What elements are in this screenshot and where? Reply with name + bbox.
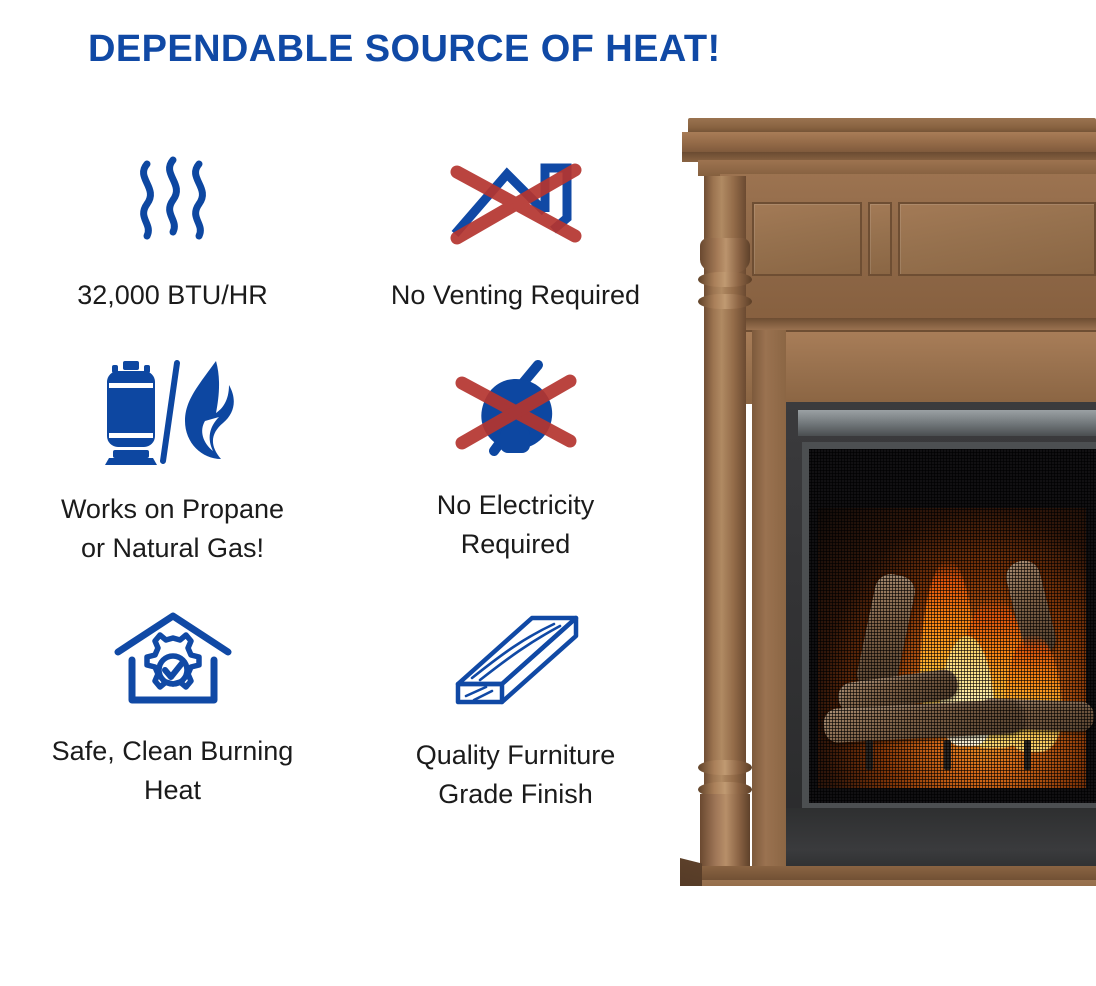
feature-label-no-venting: No Venting Required (391, 276, 640, 315)
feature-label-furniture-grade: Quality Furniture Grade Finish (416, 736, 616, 814)
no-electricity-icon (446, 356, 586, 464)
mantel-frieze-lip (720, 318, 1096, 330)
heat-waves-icon (123, 146, 223, 254)
page-title: DEPENDABLE SOURCE OF HEAT! (88, 28, 988, 71)
feature-grid: 32,000 BTU/HR (0, 140, 686, 900)
feature-item-no-venting: No Venting Required (345, 140, 686, 350)
mantel-keystone-panel (868, 202, 892, 276)
mantel-raised-panel-right (898, 202, 1096, 276)
house-gear-check-icon (108, 606, 238, 710)
no-venting-icon (441, 146, 591, 254)
column-capital (700, 238, 750, 274)
feature-item-btu-rating: 32,000 BTU/HR (0, 140, 345, 350)
feature-label-btu-rating: 32,000 BTU/HR (77, 276, 268, 315)
mantel-raised-panel-left (752, 202, 862, 276)
column-ring-lower-1 (698, 760, 752, 775)
feature-label-safe-clean-burning: Safe, Clean Burning Heat (52, 732, 294, 810)
infographic-canvas: DEPENDABLE SOURCE OF HEAT! 32,000 BTU/HR (0, 0, 1096, 986)
mantel-crown-mid (682, 132, 1096, 154)
column-ring-upper-1 (698, 272, 752, 287)
mantel-left-stile (752, 330, 786, 876)
feature-label-no-electricity: No Electricity Required (437, 486, 595, 564)
firebox-frame (802, 442, 1096, 810)
column-ring-upper-2 (698, 294, 752, 309)
feature-item-fuel-type: Works on Propane or Natural Gas! (0, 350, 345, 600)
feature-item-furniture-grade: Quality Furniture Grade Finish (345, 600, 686, 840)
firebox-lintel-trim (798, 410, 1096, 436)
lumber-plank-icon (446, 606, 586, 714)
mantel-side-return (680, 858, 702, 886)
feature-label-fuel-type: Works on Propane or Natural Gas! (61, 490, 284, 568)
feature-item-safe-clean-burning: Safe, Clean Burning Heat (0, 600, 345, 840)
feature-item-no-electricity: No Electricity Required (345, 350, 686, 600)
mantel-turned-column (698, 176, 752, 876)
propane-or-gas-icon (85, 356, 261, 468)
fireplace-product-photo (680, 118, 1096, 886)
mantel-plinth-base (680, 880, 1096, 886)
mantel-header-band (732, 330, 1096, 404)
